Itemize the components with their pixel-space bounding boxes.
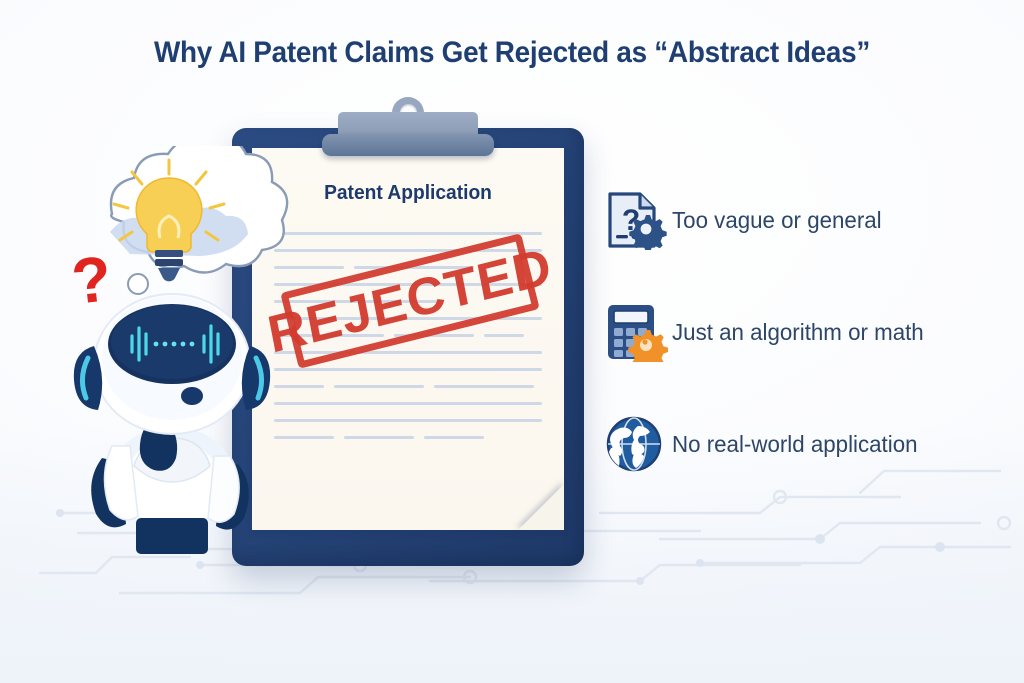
text-line: [274, 385, 542, 388]
calculator-gear-icon: [604, 302, 668, 362]
thought-bubble: [110, 146, 287, 281]
robot-head: [74, 294, 270, 434]
list-item: ? Too vague or general: [604, 190, 1004, 250]
list-item: Just an algorithm or math: [604, 302, 1004, 362]
text-line: [274, 368, 542, 371]
text-line: [274, 436, 542, 439]
document-title: Patent Application: [258, 182, 558, 205]
text-line: [274, 232, 542, 235]
thought-bubble-dot: [128, 274, 148, 294]
reasons-list: ? Too vague or general: [604, 190, 1004, 526]
list-item-label: Too vague or general: [672, 207, 882, 234]
text-line: [274, 402, 542, 405]
document-question-gear-icon: ?: [604, 190, 668, 250]
page-title: Why AI Patent Claims Get Rejected as “Ab…: [36, 36, 988, 70]
clip-base: [322, 134, 494, 156]
list-item-label: No real-world application: [672, 431, 918, 458]
text-line: [274, 419, 542, 422]
globe-icon: [604, 414, 668, 474]
question-mark-icon: ?: [69, 246, 115, 314]
paper-folded-corner: [518, 484, 564, 530]
list-item: No real-world application: [604, 414, 1004, 474]
infographic-canvas: Why AI Patent Claims Get Rejected as “Ab…: [0, 0, 1024, 683]
thinking-robot: [52, 146, 292, 576]
list-item-label: Just an algorithm or math: [672, 319, 924, 346]
